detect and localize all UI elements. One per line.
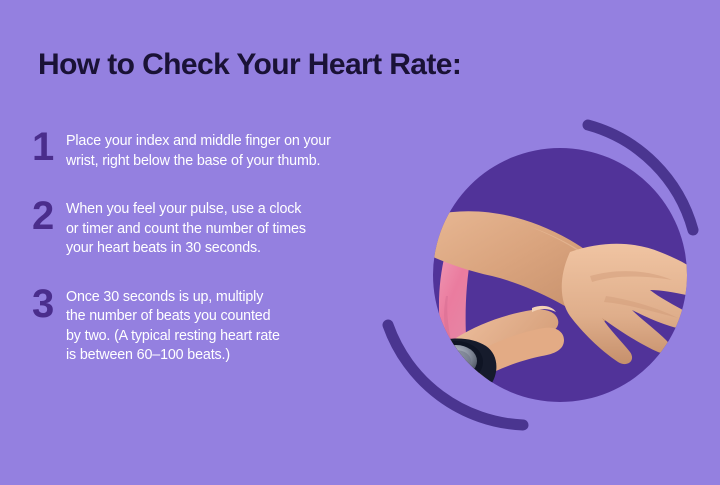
step-3-line-4: is between 60–100 beats.) [66,346,280,366]
step-2-line-2: or timer and count the number of times [66,220,306,240]
step-text-2: When you feel your pulse, use a clock or… [66,197,306,259]
step-3-line-3: by two. (A typical resting heart rate [66,327,280,347]
step-text-3: Once 30 seconds is up, multiply the numb… [66,285,280,366]
step-item-1: 1 Place your index and middle finger on … [32,128,422,171]
step-2-line-3: your heart beats in 30 seconds. [66,239,306,259]
page-title: How to Check Your Heart Rate: [38,48,461,82]
step-1-line-1: Place your index and middle finger on yo… [66,132,331,152]
step-number-1: 1 [32,128,66,166]
infographic-canvas: How to Check Your Heart Rate: [0,0,720,485]
wrist-watch [409,339,502,445]
steps-list: 1 Place your index and middle finger on … [32,128,422,392]
step-item-2: 2 When you feel your pulse, use a clock … [32,197,422,259]
step-3-line-2: the number of beats you counted [66,307,280,327]
step-item-3: 3 Once 30 seconds is up, multiply the nu… [32,285,422,366]
step-text-1: Place your index and middle finger on yo… [66,128,331,171]
step-number-3: 3 [32,285,66,323]
step-2-line-1: When you feel your pulse, use a clock [66,200,306,220]
step-number-2: 2 [32,197,66,235]
step-3-line-1: Once 30 seconds is up, multiply [66,288,280,308]
step-1-line-2: wrist, right below the base of your thum… [66,152,331,172]
